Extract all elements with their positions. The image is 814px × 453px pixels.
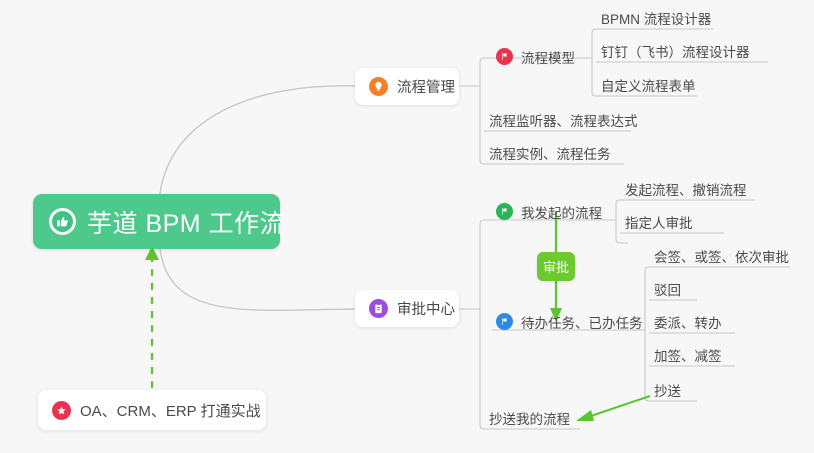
cc-flow-arrow xyxy=(576,396,650,421)
node-cc-to-me-process[interactable]: 抄送我的流程 xyxy=(489,406,570,430)
node-label: 流程监听器、流程表达式 xyxy=(489,110,638,130)
node-label: 驳回 xyxy=(654,279,681,299)
node-start-cancel-process[interactable]: 发起流程、撤销流程 xyxy=(625,177,747,201)
node-label: 待办任务、已办任务 xyxy=(521,312,643,332)
flag-icon xyxy=(496,48,513,65)
node-label: 钉钉（飞书）流程设计器 xyxy=(601,41,750,61)
node-dingtalk-feishu-designer[interactable]: 钉钉（飞书）流程设计器 xyxy=(601,39,750,63)
node-reject[interactable]: 驳回 xyxy=(654,277,681,301)
node-process-instance-task[interactable]: 流程实例、流程任务 xyxy=(489,141,611,165)
node-my-initiated-process[interactable]: 我发起的流程 xyxy=(496,200,602,224)
branch-node-process-management[interactable]: 流程管理 xyxy=(355,68,459,105)
node-cc[interactable]: 抄送 xyxy=(654,378,681,402)
mindmap-canvas: 芋道 BPM 工作流 流程管理 审批中心 OA xyxy=(0,0,814,453)
node-bpmn-designer[interactable]: BPMN 流程设计器 xyxy=(601,6,711,30)
node-label: 我发起的流程 xyxy=(521,202,602,222)
node-label: 会签、或签、依次审批 xyxy=(654,246,789,266)
star-icon xyxy=(52,401,71,420)
node-label: 自定义流程表单 xyxy=(601,75,696,95)
node-delegate-transfer[interactable]: 委派、转办 xyxy=(654,310,722,334)
node-label: 抄送我的流程 xyxy=(489,408,570,428)
node-label: 流程模型 xyxy=(521,47,575,67)
node-process-listener-expression[interactable]: 流程监听器、流程表达式 xyxy=(489,108,638,132)
node-label: 委派、转办 xyxy=(654,312,722,332)
branch-node-approval-center[interactable]: 审批中心 xyxy=(355,290,459,327)
node-label: 抄送 xyxy=(654,380,681,400)
node-add-remove-sign[interactable]: 加签、减签 xyxy=(654,343,722,367)
flag-icon xyxy=(496,313,513,330)
flag-icon xyxy=(496,203,513,220)
footnote-label: OA、CRM、ERP 打通实战 xyxy=(80,400,261,421)
thumbs-up-icon xyxy=(49,208,76,235)
node-label: BPMN 流程设计器 xyxy=(601,8,711,28)
node-process-model[interactable]: 流程模型 xyxy=(496,45,575,69)
approval-badge[interactable]: 审批 xyxy=(537,252,575,281)
approval-badge-label: 审批 xyxy=(543,257,569,276)
lightbulb-icon xyxy=(369,77,388,96)
node-designated-approver[interactable]: 指定人审批 xyxy=(625,210,693,234)
node-todo-done-tasks[interactable]: 待办任务、已办任务 xyxy=(496,310,643,334)
clipboard-icon xyxy=(369,299,388,318)
branch-label-approval-center: 审批中心 xyxy=(397,298,455,319)
integration-dashed-arrow xyxy=(145,246,159,388)
node-label: 流程实例、流程任务 xyxy=(489,143,611,163)
root-label: 芋道 BPM 工作流 xyxy=(87,204,285,240)
node-label: 发起流程、撤销流程 xyxy=(625,179,747,199)
footnote-node-oa-crm-erp[interactable]: OA、CRM、ERP 打通实战 xyxy=(38,390,266,430)
node-custom-process-form[interactable]: 自定义流程表单 xyxy=(601,73,696,97)
node-label: 加签、减签 xyxy=(654,345,722,365)
root-node[interactable]: 芋道 BPM 工作流 xyxy=(33,194,280,249)
node-countersign-orsign-sequential[interactable]: 会签、或签、依次审批 xyxy=(654,244,789,268)
node-label: 指定人审批 xyxy=(625,212,693,232)
branch-label-process-management: 流程管理 xyxy=(397,76,455,97)
